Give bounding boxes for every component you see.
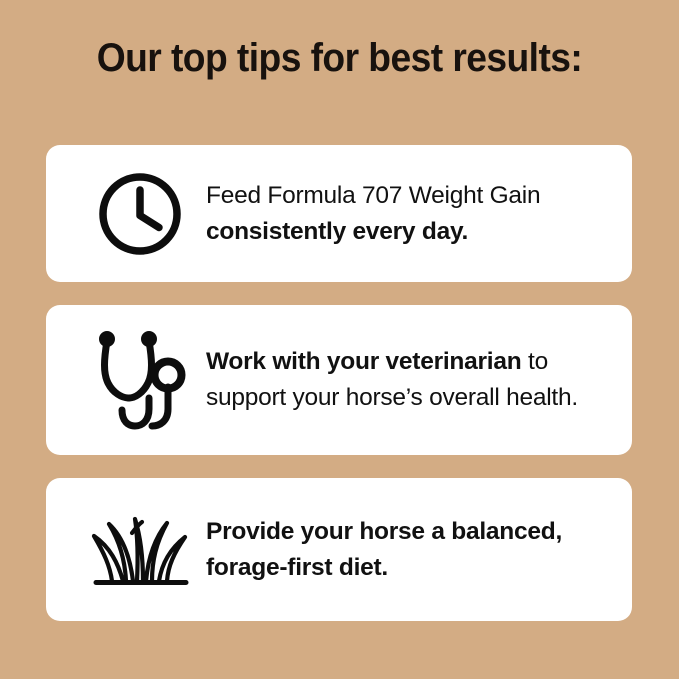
tip-card-text: Feed Formula 707 Weight Gain consistentl… (206, 178, 610, 250)
tip-card-work-with-vet: Work with your veterinarian to support y… (46, 305, 632, 455)
tip-card-feed-consistently: Feed Formula 707 Weight Gain consistentl… (46, 145, 632, 282)
tip-text-line-bold-second: forage-first diet. (206, 554, 388, 581)
grass-icon (74, 509, 206, 591)
tips-card-list: Feed Formula 707 Weight Gain consistentl… (46, 145, 632, 621)
tip-text-line-bold: Provide your horse a balanced, (206, 518, 562, 545)
clock-icon (74, 170, 206, 258)
tip-card-forage-first-diet: Provide your horse a balanced, forage-fi… (46, 478, 632, 621)
tips-infographic: Our top tips for best results: Feed Form… (0, 0, 679, 679)
tip-text-line-bold: consistently every day. (206, 218, 468, 245)
stethoscope-icon (74, 329, 206, 431)
tip-text-line-regular: Feed Formula 707 Weight Gain (206, 182, 540, 209)
page-title: Our top tips for best results: (24, 34, 655, 82)
tip-card-text: Provide your horse a balanced, forage-fi… (206, 514, 610, 586)
tip-text-lead-bold: Work with your veterinarian (206, 348, 521, 375)
tip-card-text: Work with your veterinarian to support y… (206, 344, 610, 416)
